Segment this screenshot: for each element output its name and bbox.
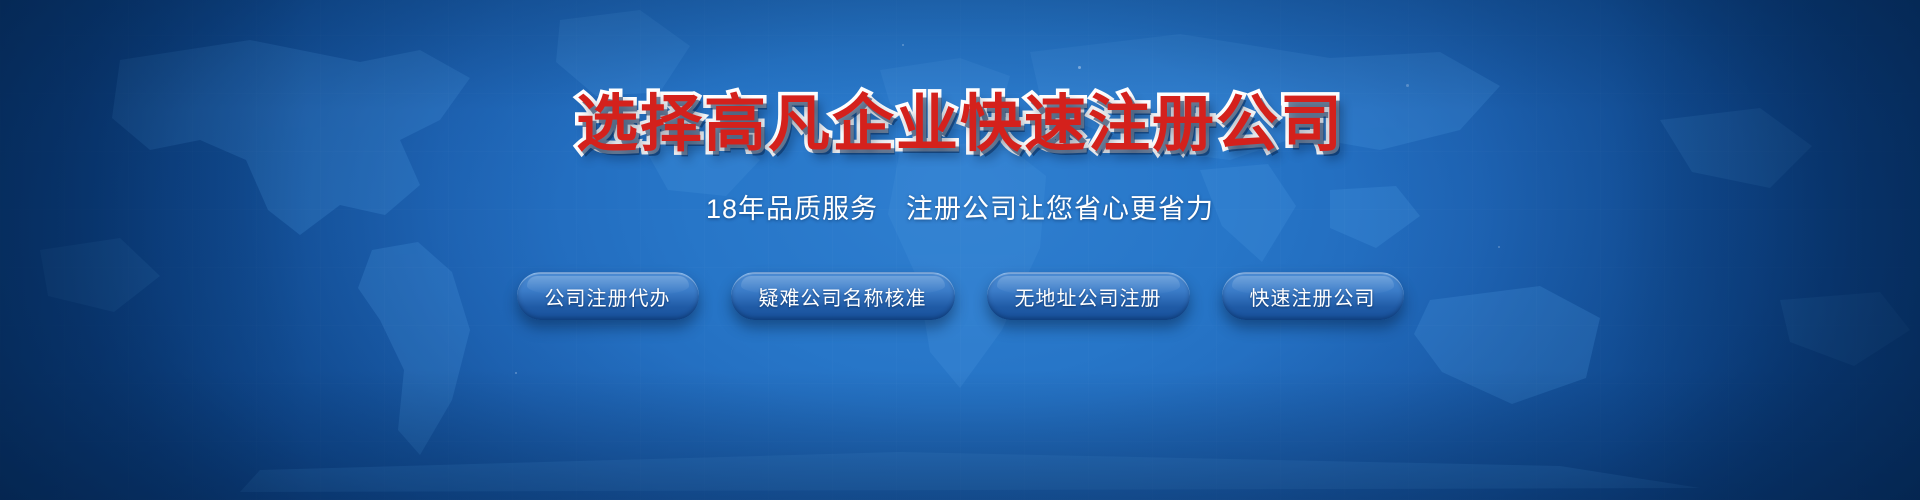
promo-banner: 选择高凡企业快速注册公司 18年品质服务 注册公司让您省心更省力 公司注册代办 … — [0, 0, 1920, 500]
banner-headline: 选择高凡企业快速注册公司 — [576, 92, 1344, 157]
banner-content: 选择高凡企业快速注册公司 18年品质服务 注册公司让您省心更省力 公司注册代办 … — [0, 0, 1920, 500]
service-tag-label: 公司注册代办 — [545, 282, 671, 311]
service-tag-no-address-registration[interactable]: 无地址公司注册 — [987, 272, 1190, 320]
service-tag-company-registration-agency[interactable]: 公司注册代办 — [517, 272, 699, 320]
service-tag-list: 公司注册代办 疑难公司名称核准 无地址公司注册 快速注册公司 — [517, 272, 1404, 320]
banner-subheadline: 18年品质服务 注册公司让您省心更省力 — [706, 187, 1214, 226]
service-tag-label: 疑难公司名称核准 — [759, 282, 927, 311]
service-tag-label: 无地址公司注册 — [1015, 282, 1162, 311]
service-tag-difficult-name-approval[interactable]: 疑难公司名称核准 — [731, 272, 955, 320]
service-tag-label: 快速注册公司 — [1250, 282, 1376, 311]
service-tag-fast-registration[interactable]: 快速注册公司 — [1222, 272, 1404, 320]
